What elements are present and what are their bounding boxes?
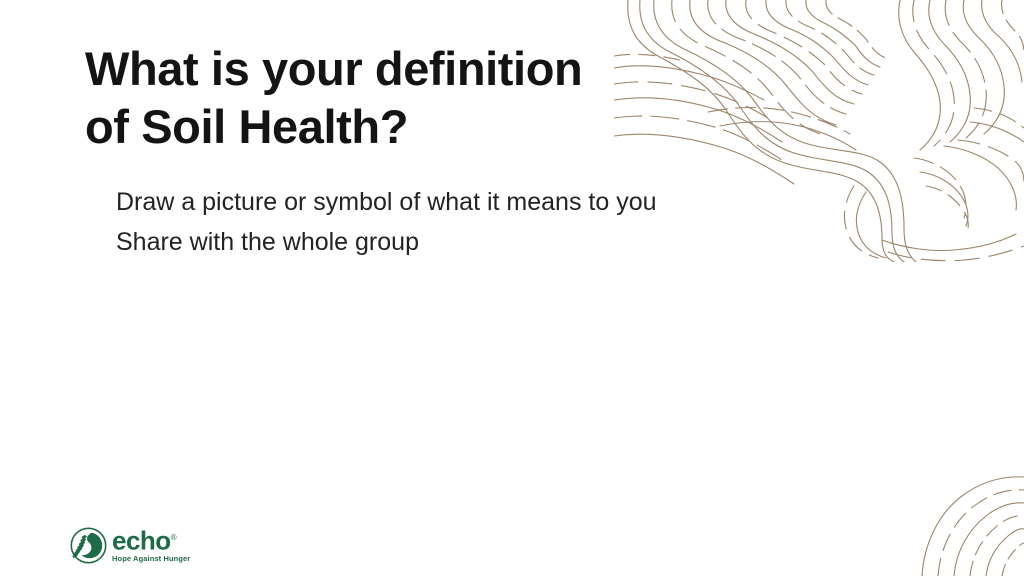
title-line-1: What is your definition [85,40,705,98]
body-line-1: Draw a picture or symbol of what it mean… [116,182,836,222]
title-line-2: of Soil Health? [85,98,705,156]
registered-trademark-icon: ® [171,533,176,542]
topographic-decoration-bottom-right [904,458,1024,576]
echo-wordmark: echo® [112,526,190,553]
slide-canvas: What is your definition of Soil Health? … [0,0,1024,576]
echo-wordmark-text: echo [112,525,171,555]
echo-logo: echo® Hope Against Hunger [70,523,195,567]
slide-title: What is your definition of Soil Health? [85,40,705,156]
body-line-2: Share with the whole group [116,222,836,262]
echo-logo-text: echo® Hope Against Hunger [112,526,190,565]
slide-body: Draw a picture or symbol of what it mean… [116,182,836,262]
echo-globe-leaf-emblem-icon [70,527,107,564]
